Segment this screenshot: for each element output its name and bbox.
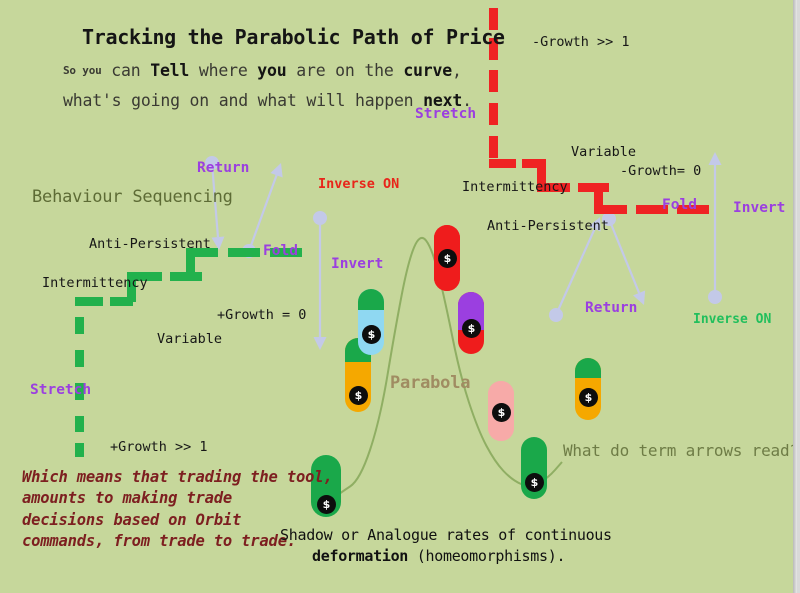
dash-segment <box>489 70 498 92</box>
dash-segment <box>228 248 260 257</box>
right-invert-label: Invert <box>733 201 785 217</box>
dollar-badge-icon: $ <box>362 325 381 344</box>
candlestick: $ <box>575 358 601 420</box>
dollar-badge-icon: $ <box>349 386 368 405</box>
left-invert-label: Invert <box>331 257 383 273</box>
dash-segment <box>489 136 498 158</box>
left-fold-label: Fold <box>263 244 298 260</box>
dash-segment <box>75 297 103 306</box>
arrow-head-icon <box>314 337 327 350</box>
dash-segment <box>489 103 498 125</box>
subtitle-soyou: So you <box>63 64 102 77</box>
candlestick: $ <box>458 292 484 354</box>
candle-body-upper <box>358 289 384 310</box>
arrow-origin-dot <box>313 211 327 225</box>
subtitle-curve: curve <box>403 61 452 80</box>
caption-line-1: Which means that trading the tool, <box>22 467 332 488</box>
dollar-badge-icon: $ <box>438 249 457 268</box>
right-variable-label: Variable <box>571 145 636 160</box>
dollar-badge-icon: $ <box>579 388 598 407</box>
subtitle-can: can <box>102 61 151 80</box>
left-return-label: Return <box>197 161 249 177</box>
homeomorphisms-word: (homeomorphisms). <box>408 547 565 565</box>
dash-segment <box>75 443 84 457</box>
infographic-canvas: $$$$$$$$ Tracking the Parabolic Path of … <box>0 0 800 593</box>
candlestick: $ <box>521 437 547 499</box>
dash-segment <box>75 317 84 334</box>
subtitle-line-1: So you can Tell where you are on the cur… <box>63 62 462 80</box>
deformation-word: deformation <box>312 547 408 565</box>
dash-segment <box>489 159 516 168</box>
parabola-label: Parabola <box>390 374 470 393</box>
dollar-badge-icon: $ <box>462 319 481 338</box>
left-anti-persistent-label: Anti-Persistent <box>89 237 211 252</box>
dollar-badge-icon: $ <box>525 473 544 492</box>
subtitle-line-2: what's going on and what will happen nex… <box>63 92 472 110</box>
right-fold-label: Fold <box>662 198 697 214</box>
subtitle-whatsgoingon: what's going on and what will happen <box>63 91 423 110</box>
right-intermittency-label: Intermittency <box>462 180 568 195</box>
bottom-caption-line-2: deformation (homeomorphisms). <box>280 546 612 567</box>
right-growth-zero-label: -Growth= 0 <box>620 164 701 179</box>
candlestick: $ <box>488 381 514 441</box>
dash-segment <box>578 183 609 192</box>
subtitle-areonthe: are on the <box>287 61 404 80</box>
page-title: Tracking the Parabolic Path of Price <box>82 26 505 48</box>
left-growth-big-label: +Growth >> 1 <box>110 440 208 455</box>
candle-body-upper <box>575 358 601 378</box>
right-stretch-label: Stretch <box>415 107 476 123</box>
right-growth-big-label: -Growth >> 1 <box>532 35 630 50</box>
subtitle-tell: Tell <box>150 61 189 80</box>
dash-segment <box>594 205 627 214</box>
arrow-shaft <box>249 175 277 251</box>
subtitle-comma: , <box>452 61 462 80</box>
left-inverse-on-label: Inverse ON <box>318 177 399 192</box>
subtitle-where: where <box>189 61 257 80</box>
question-label: What do term arrows read? <box>563 442 799 460</box>
left-variable-label: Variable <box>157 332 222 347</box>
candlestick: $ <box>434 225 460 291</box>
candlestick: $ <box>358 289 384 355</box>
dash-segment <box>522 159 546 168</box>
arrow-origin-dot <box>549 308 563 322</box>
left-growth-zero-label: +Growth = 0 <box>217 308 306 323</box>
arrow-head-icon <box>709 152 722 165</box>
arrow-origin-dot <box>708 290 722 304</box>
bottom-caption-line-1: Shadow or Analogue rates of continuous <box>280 525 612 546</box>
arrow-shaft <box>609 219 639 293</box>
right-anti-persistent-label: Anti-Persistent <box>487 219 609 234</box>
dollar-badge-icon: $ <box>492 403 511 422</box>
left-stretch-label: Stretch <box>30 383 91 399</box>
dash-segment <box>75 416 84 432</box>
subtitle-you: you <box>257 61 286 80</box>
right-inverse-on-label: Inverse ON <box>693 313 771 327</box>
bottom-center-caption: Shadow or Analogue rates of continuous d… <box>280 525 612 567</box>
dash-segment <box>75 350 84 367</box>
caption-line-2: amounts to making trade <box>22 488 332 509</box>
behaviour-sequencing-label: Behaviour Sequencing <box>32 188 233 207</box>
left-intermittency-label: Intermittency <box>42 276 148 291</box>
right-return-label: Return <box>585 301 637 317</box>
